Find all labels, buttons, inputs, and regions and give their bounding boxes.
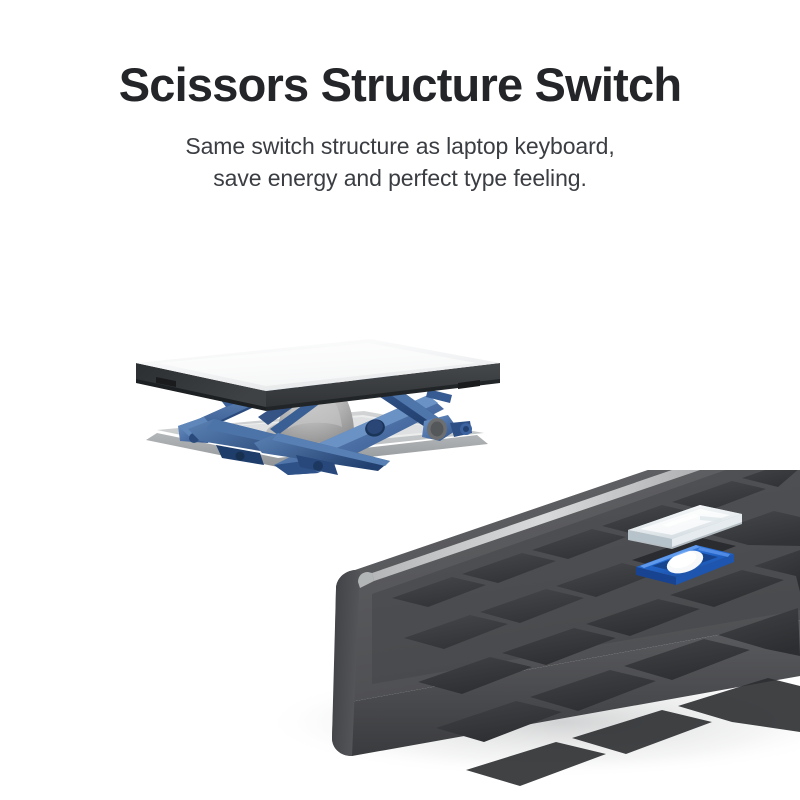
text-block: Scissors Structure Switch Same switch st… — [0, 60, 800, 195]
page-subtitle-line-2: save energy and perfect type feeling. — [0, 162, 800, 195]
page-title: Scissors Structure Switch — [0, 60, 800, 111]
keyboard-scene — [0, 470, 800, 800]
product-feature-slide: Scissors Structure Switch Same switch st… — [0, 0, 800, 800]
scissor-switch-exploded-view — [128, 325, 508, 495]
page-subtitle: Same switch structure as laptop keyboard… — [0, 130, 800, 195]
page-subtitle-line-1: Same switch structure as laptop keyboard… — [185, 133, 614, 159]
